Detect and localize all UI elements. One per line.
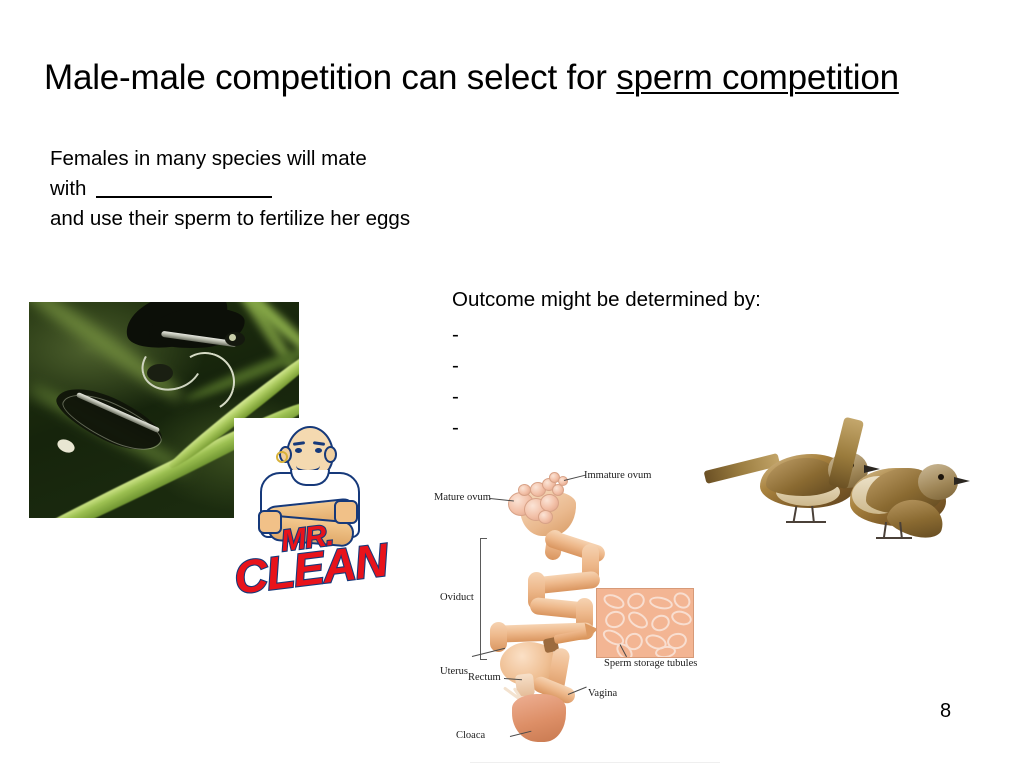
label-vagina: Vagina [588,688,617,699]
outcome-bullet-2: - [452,350,761,381]
tubule [648,595,674,612]
mr-clean-eye-right [315,448,322,453]
outcome-block: Outcome might be determined by: - - - - [452,290,761,443]
tubule [601,591,626,611]
bird-right-foot-2 [894,537,912,539]
outcome-bullet-1: - [452,319,761,350]
mr-clean-logo: MR. CLEAN [234,418,380,594]
cloaca [512,694,566,742]
slide-number: 8 [940,700,951,723]
bird-right-beak [954,477,970,485]
ovum [518,484,531,496]
label-mature-ovum: Mature ovum [434,492,491,503]
tubule [669,608,693,627]
slide-canvas: Male-male competition can select for spe… [0,0,1024,768]
label-uterus: Uterus [440,666,468,677]
tubule [603,608,627,630]
tubule [649,612,673,634]
label-oviduct: Oviduct [440,592,474,603]
label-cloaca: Cloaca [456,730,485,741]
body-line-2: with [50,174,410,204]
dunnock-pair-illustration [702,424,978,572]
bird-left-foot-1 [786,521,806,523]
bird-left-leg-1 [793,506,798,522]
bird-right-foot-1 [876,537,894,539]
oviduct-bracket [480,538,487,660]
mr-clean-earring-icon [276,451,288,463]
label-rectum: Rectum [468,672,501,683]
bird-left-foot-2 [806,521,826,523]
body-line-1: Females in many species will mate [50,144,410,174]
damselfly-eye-upper [229,334,236,341]
tubule [624,590,648,613]
mr-clean-eye-left [295,448,302,453]
sperm-storage-tubules-inset [596,588,694,658]
mr-clean-ear-right [324,446,337,463]
body-text-block: Females in many species will mate with a… [50,144,410,234]
label-sperm-tubules: Sperm storage tubules [604,658,697,669]
page-title: Male-male competition can select for spe… [44,58,984,98]
title-prefix: Male-male competition can select for [44,58,616,97]
ovum [538,510,553,524]
body-line-2-prefix: with [50,177,92,200]
outcome-bullet-3: - [452,381,761,412]
immature-ovum [558,476,568,486]
tubule [625,608,651,632]
fill-in-blank[interactable] [96,196,272,198]
tubule [670,589,693,612]
leader-uterus [472,648,505,657]
bird-right-eye [938,474,944,480]
outcome-heading: Outcome might be determined by: [452,290,761,311]
damselfly-thorax-lower [147,364,173,382]
bird-left-leg-2 [811,506,815,522]
body-line-3: and use their sperm to fertilize her egg… [50,204,410,234]
bird-right-head [918,464,958,500]
diagram-bottom-edge [470,762,720,763]
label-immature-ovum: Immature ovum [584,470,651,481]
avian-female-reproductive-tract: Mature ovum Immature ovum Oviduct Uterus… [424,466,724,764]
title-underlined-term: sperm competition [616,58,899,97]
